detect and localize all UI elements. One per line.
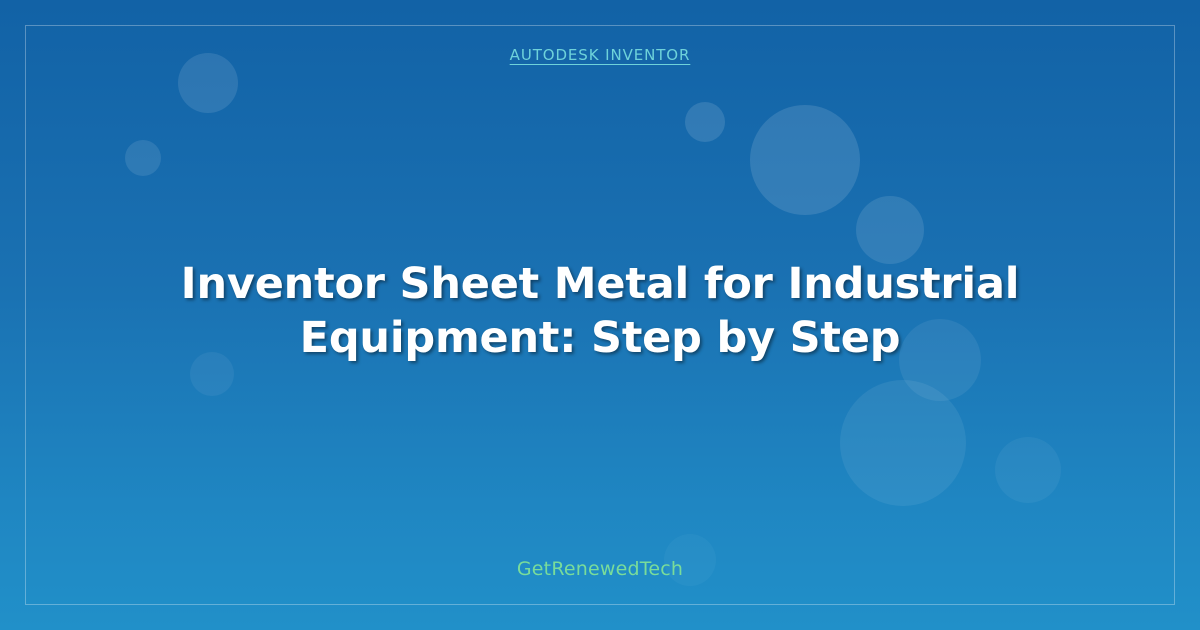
page-title: Inventor Sheet Metal for Industrial Equi…: [70, 257, 1130, 365]
social-share-card: AUTODESK INVENTOR Inventor Sheet Metal f…: [0, 0, 1200, 630]
category-eyebrow-link[interactable]: AUTODESK INVENTOR: [510, 46, 691, 64]
brand-name: GetRenewedTech: [25, 558, 1175, 580]
card-content: AUTODESK INVENTOR Inventor Sheet Metal f…: [25, 25, 1175, 605]
title-block: Inventor Sheet Metal for Industrial Equi…: [25, 257, 1175, 365]
